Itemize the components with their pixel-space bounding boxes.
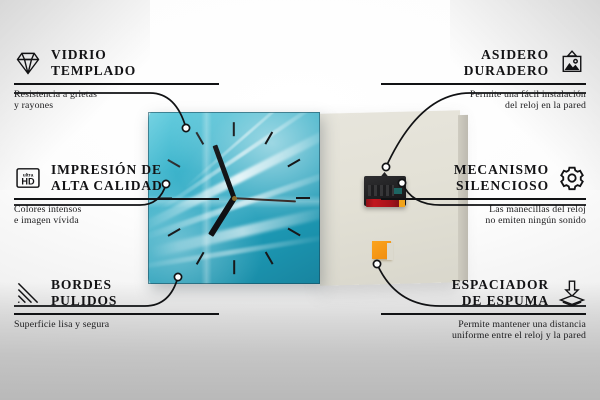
feature-title-line2: PULIDOS — [51, 293, 117, 309]
feature-desc-line1: Permite una fácil instalación — [381, 89, 586, 101]
feature-rule — [381, 313, 586, 315]
svg-text:HD: HD — [21, 176, 35, 186]
feature-title-line1: ESPACIADOR — [452, 277, 549, 293]
feature-title-line1: VIDRIO — [51, 47, 136, 63]
feature-title-line2: TEMPLADO — [51, 63, 136, 79]
feature-espaciador-de-espuma: ESPACIADOR DE ESPUMA Permite mantener un… — [381, 277, 586, 342]
feature-title-line1: IMPRESIÓN DE — [51, 162, 163, 178]
feature-title-line1: BORDES — [51, 277, 117, 293]
ultra-hd-badge-icon: ultra HD — [14, 164, 42, 192]
feature-title-line2: ALTA CALIDAD — [51, 178, 163, 194]
feature-desc-line2: no emiten ningún sonido — [381, 215, 586, 227]
feature-mecanismo-silencioso: MECANISMO SILENCIOSO Las manecillas del … — [381, 162, 586, 227]
polished-edge-lines-icon — [14, 279, 42, 307]
feature-desc-line2: y rayones — [14, 100, 219, 112]
feature-desc-line2: del reloj en la pared — [381, 100, 586, 112]
infographic-canvas: VIDRIO TEMPLADO Resistencia a grietas y … — [0, 0, 600, 400]
foam-spacer-shadow — [387, 243, 393, 260]
feature-desc-line1: Resistencia a grietas — [14, 89, 219, 101]
feature-asidero-duradero: ASIDERO DURADERO Permite una fácil insta… — [381, 47, 586, 112]
feature-title-line2: SILENCIOSO — [454, 178, 549, 194]
feature-desc-line1: Superficie lisa y segura — [14, 319, 219, 331]
feature-vidrio-templado: VIDRIO TEMPLADO Resistencia a grietas y … — [14, 47, 219, 112]
feature-impresion-alta-calidad: ultra HD IMPRESIÓN DE ALTA CALIDAD Color… — [14, 162, 219, 227]
feature-title-line2: DURADERO — [464, 63, 549, 79]
gear-icon — [558, 164, 586, 192]
feature-rule — [381, 83, 586, 85]
feature-title-line1: MECANISMO — [454, 162, 549, 178]
arrow-down-onto-pad-icon — [558, 279, 586, 307]
feature-title-line1: ASIDERO — [464, 47, 549, 63]
feature-title-line2: DE ESPUMA — [452, 293, 549, 309]
diamond-icon — [14, 49, 42, 77]
feature-desc-line2: e imagen vívida — [14, 215, 219, 227]
feature-rule — [14, 83, 219, 85]
feature-bordes-pulidos: BORDES PULIDOS Superficie lisa y segura — [14, 277, 219, 330]
feature-desc-line1: Permite mantener una distancia — [381, 319, 586, 331]
feature-desc-line2: uniforme entre el reloj y la pared — [381, 330, 586, 342]
feature-rule — [14, 198, 219, 200]
feature-rule — [381, 198, 586, 200]
hanging-picture-frame-icon — [558, 49, 586, 77]
feature-rule — [14, 313, 219, 315]
feature-desc-line1: Colores intensos — [14, 204, 219, 216]
feature-desc-line1: Las manecillas del reloj — [381, 204, 586, 216]
